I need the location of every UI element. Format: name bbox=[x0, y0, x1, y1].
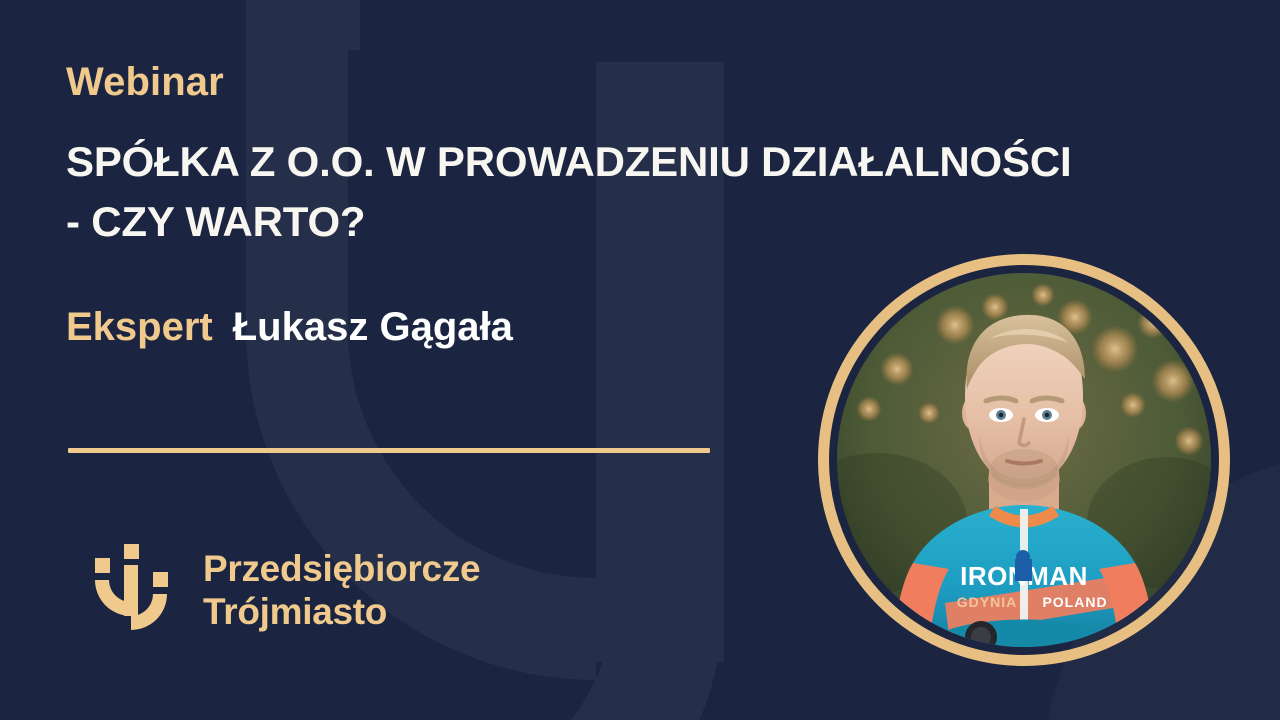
eyebrow-label: Webinar bbox=[66, 62, 224, 102]
webinar-slide: Webinar SPÓŁKA Z O.O. W PROWADZENIU DZIA… bbox=[0, 0, 1280, 720]
page-title: SPÓŁKA Z O.O. W PROWADZENIU DZIAŁALNOŚCI… bbox=[66, 132, 1256, 251]
logo-wordmark: Przedsiębiorcze Trójmiasto bbox=[203, 547, 480, 634]
gold-divider bbox=[68, 448, 710, 453]
brand-logo: Przedsiębiorcze Trójmiasto bbox=[95, 540, 480, 640]
expert-row: Ekspert Łukasz Gągała bbox=[66, 307, 513, 347]
expert-name: Łukasz Gągała bbox=[233, 307, 513, 347]
expert-label: Ekspert bbox=[66, 307, 213, 347]
speaker-portrait: IRONMAN GDYNIA POLAND bbox=[818, 254, 1230, 666]
uj-smile-mark-icon bbox=[95, 540, 181, 640]
portrait-gold-ring bbox=[818, 254, 1230, 666]
